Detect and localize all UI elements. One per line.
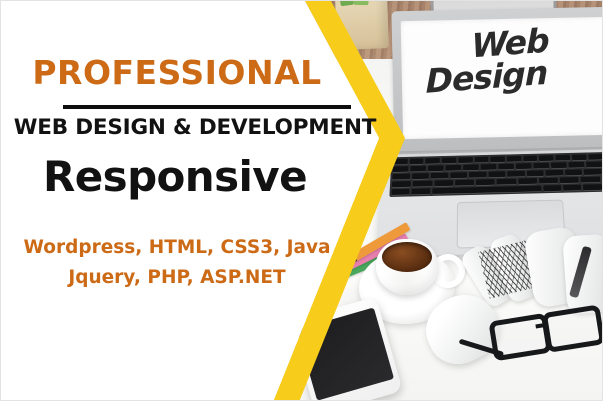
headline-responsive: Responsive xyxy=(1,154,349,199)
technology-line-1: Wordpress, HTML, CSS3, Java xyxy=(1,233,353,263)
laptop-screen: Web Design xyxy=(401,17,603,139)
laptop-computer: Web Design xyxy=(391,7,603,162)
subheadline-web-design-development: WEB DESIGN & DEVELOPMENT xyxy=(1,117,389,139)
laptop-keyboard xyxy=(389,152,603,197)
technology-line-2: Jquery, PHP, ASP.NET xyxy=(1,263,353,293)
coffee-liquid xyxy=(382,242,432,272)
headline-divider-rule xyxy=(63,105,351,109)
promo-copy-block: PROFESSIONAL WEB DESIGN & DEVELOPMENT Re… xyxy=(1,1,381,401)
laptop-lid: Web Design xyxy=(391,7,603,154)
eyeglasses-right-lens xyxy=(542,304,603,353)
web-design-promo-banner: Web Design xyxy=(0,0,603,401)
headline-professional: PROFESSIONAL xyxy=(1,56,353,89)
screen-text-line-2: Design xyxy=(426,57,549,98)
laptop-screen-text: Web Design xyxy=(420,25,549,99)
technology-list: Wordpress, HTML, CSS3, Java Jquery, PHP,… xyxy=(1,233,353,293)
